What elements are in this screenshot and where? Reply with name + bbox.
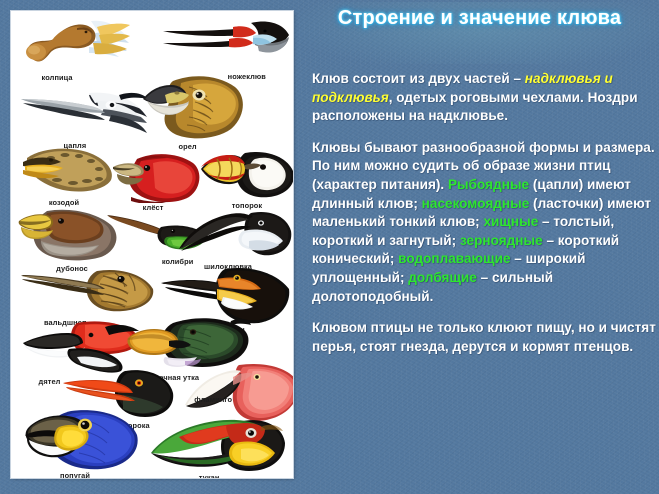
- kolpica-beak-art: [19, 17, 131, 73]
- toporok-head-art: [199, 149, 293, 201]
- bird-label-dyatel: дятел: [39, 377, 61, 386]
- bird-label-kolpica: колпица: [42, 73, 73, 82]
- term-nasekomoyadnye: насекомоядные: [422, 196, 530, 211]
- bird-label-kozodoy: козодой: [49, 198, 79, 207]
- popugay-head-art: [21, 409, 141, 471]
- nozheklyuv-beak-art: [161, 19, 291, 71]
- run-text: Клюв состоит из двух частей –: [312, 71, 525, 86]
- kozodoy-head-art: [21, 146, 121, 198]
- bird-figure-nozheklyuv: ножеклюв: [161, 19, 291, 81]
- term-hishchnye: хищные: [483, 214, 538, 229]
- bird-figure-caplya: цапля: [19, 89, 149, 151]
- tukan-head-art: [139, 419, 285, 473]
- slide-body-text: Клюв состоит из двух частей – надклювья …: [312, 70, 657, 356]
- valdshnep-head-art: [19, 267, 155, 317]
- term-vodoplavayushchie: водоплавающие: [398, 251, 510, 266]
- paragraph-1: Клюв состоит из двух частей – надклювья …: [312, 70, 657, 126]
- bird-label-orel: орел: [178, 142, 196, 151]
- shiloklyuvka-head-art: [177, 209, 293, 259]
- bird-figure-orel: орел: [137, 73, 247, 153]
- term-zernoyadnye: зерноядные: [460, 233, 543, 248]
- paragraph-2: Клювы бывают разнообразной формы и разме…: [312, 139, 657, 306]
- bird-label-popugay: попугай: [60, 471, 90, 478]
- slide-title: Строение и значение клюва: [300, 6, 659, 31]
- paragraph-3: Клювом птицы не только клюют пищу, но и …: [312, 319, 657, 356]
- bird-figure-kozodoy: козодой: [21, 146, 121, 208]
- term-ryboyadnye: Рыбоядные: [448, 177, 529, 192]
- bird-figure-tukan: тукан: [139, 419, 285, 478]
- bird-figure-toporok: топорок: [199, 149, 293, 211]
- bird-label-tukan: тукан: [199, 473, 220, 478]
- bird-figure-kolpica: колпица: [19, 17, 131, 79]
- orel-head-art: [137, 73, 247, 143]
- bird-beaks-illustration-plate: колпица ножеклюв: [11, 11, 293, 478]
- caplya-head-art: [19, 89, 149, 141]
- term-dolbyashchie: долбящие: [408, 270, 477, 285]
- klyost-head-art: [107, 151, 203, 203]
- bird-figure-popugay: попугай: [21, 409, 141, 478]
- run-text: Клювом птицы не только клюют пищу, но и …: [312, 320, 656, 354]
- bird-label-flamingo: фламинго: [194, 395, 232, 404]
- bird-figure-shiloklyuvka: шилоклювка: [177, 209, 293, 271]
- bird-figure-klyost: клёст: [107, 151, 203, 213]
- flamingo-head-art: [183, 363, 293, 423]
